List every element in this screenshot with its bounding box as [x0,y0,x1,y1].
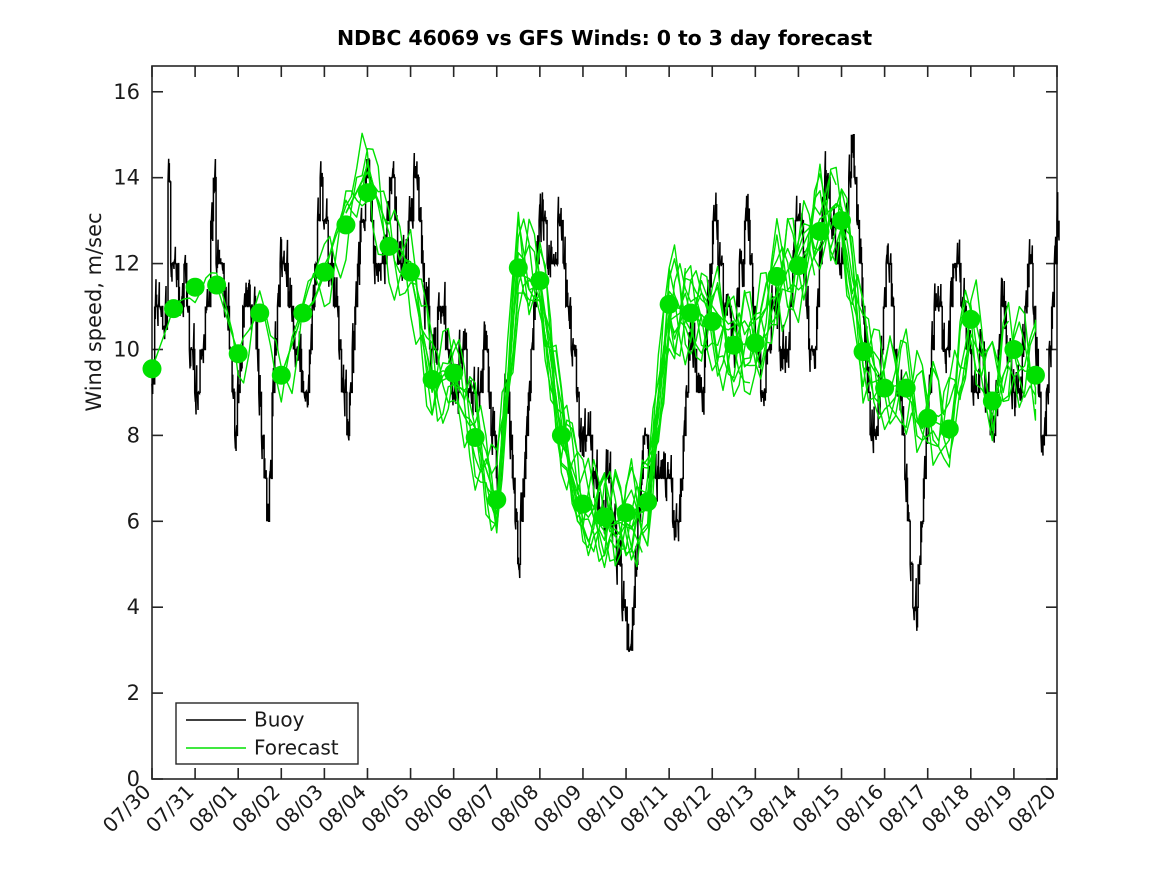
forecast-analysis-marker [164,299,183,318]
forecast-analysis-marker [617,503,636,522]
forecast-trace [411,172,837,562]
x-tick-label: 08/04 [313,780,371,838]
forecast-analysis-marker [724,336,743,355]
forecast-analysis-marker [186,278,205,297]
forecast-analysis-marker [703,312,722,331]
figure-canvas: NDBC 46069 vs GFS Winds: 0 to 3 day fore… [0,0,1167,875]
chart-plot-area: 0246810121416 07/3007/3108/0108/0208/030… [0,0,1167,875]
forecast-analysis-marker [466,428,485,447]
x-tick-label: 08/01 [184,780,242,838]
forecast-analysis-marker [595,507,614,526]
forecast-analysis-marker [358,183,377,202]
forecast-analysis-marker [918,409,937,428]
x-tick-label: 08/10 [572,780,630,838]
forecast-analysis-marker [250,303,269,322]
x-tick-label: 08/05 [356,780,414,838]
y-tick-label: 14 [113,166,140,190]
y-tick-label: 6 [127,509,140,533]
forecast-analysis-marker [1004,340,1023,359]
forecast-analysis-marker [961,310,980,329]
x-tick-label: 08/03 [270,780,328,838]
x-tick-label: 08/09 [529,780,587,838]
forecast-analysis-marker [272,366,291,385]
x-tick-label: 07/31 [141,780,199,838]
legend[interactable]: Buoy Forecast [176,703,358,764]
x-tick-label: 08/07 [443,780,501,838]
x-tick-label: 08/11 [615,780,673,838]
legend-label-forecast: Forecast [254,736,339,760]
x-tick-label: 08/20 [1003,780,1061,838]
y-tick-label: 16 [113,80,140,104]
forecast-series-lines [152,133,1035,567]
forecast-analysis-marker [423,370,442,389]
forecast-analysis-marker [983,392,1002,411]
y-tick-label: 8 [127,423,140,447]
forecast-analysis-marker [638,492,657,511]
x-tick-label: 08/14 [744,780,802,838]
forecast-analysis-marker [444,364,463,383]
x-tick-label: 08/06 [399,780,457,838]
forecast-analysis-marker [315,263,334,282]
x-tick-label: 08/19 [960,780,1018,838]
forecast-analysis-marker [530,271,549,290]
x-tick-label: 08/02 [227,780,285,838]
y-tick-label: 2 [127,681,140,705]
forecast-analysis-marker [336,215,355,234]
forecast-analysis-marker [875,379,894,398]
y-tick-label: 10 [113,337,140,361]
forecast-analysis-marker [509,258,528,277]
x-tick-label: 08/08 [486,780,544,838]
forecast-analysis-marker [832,211,851,230]
x-tick-label: 08/12 [658,780,716,838]
forecast-analysis-marker [810,222,829,241]
forecast-analysis-marker [207,276,226,295]
x-tick-label: 08/16 [830,780,888,838]
buoy-series-line [152,135,1059,652]
forecast-analysis-marker [681,303,700,322]
forecast-analysis-marker [940,419,959,438]
y-tick-label: 12 [113,252,140,276]
forecast-analysis-marker [573,495,592,514]
y-tick-label: 4 [127,595,140,619]
forecast-analysis-marker [854,342,873,361]
x-tick-label: 08/17 [874,780,932,838]
x-tick-label: 08/15 [787,780,845,838]
buoy-polyline [152,135,1059,652]
forecast-analysis-marker [767,267,786,286]
forecast-analysis-marker [1026,366,1045,385]
x-tick-label: 08/13 [701,780,759,838]
forecast-analysis-marker [552,426,571,445]
forecast-analysis-marker [660,295,679,314]
legend-label-buoy: Buoy [254,708,305,732]
forecast-analysis-marker [143,359,162,378]
forecast-analysis-marker [897,379,916,398]
forecast-analysis-marker [401,263,420,282]
forecast-analysis-marker [789,256,808,275]
forecast-analysis-marker [293,303,312,322]
forecast-analysis-marker [380,237,399,256]
forecast-analysis-marker [487,490,506,509]
forecast-analysis-marker [746,334,765,353]
x-tick-label: 08/18 [917,780,975,838]
forecast-analysis-marker [229,344,248,363]
